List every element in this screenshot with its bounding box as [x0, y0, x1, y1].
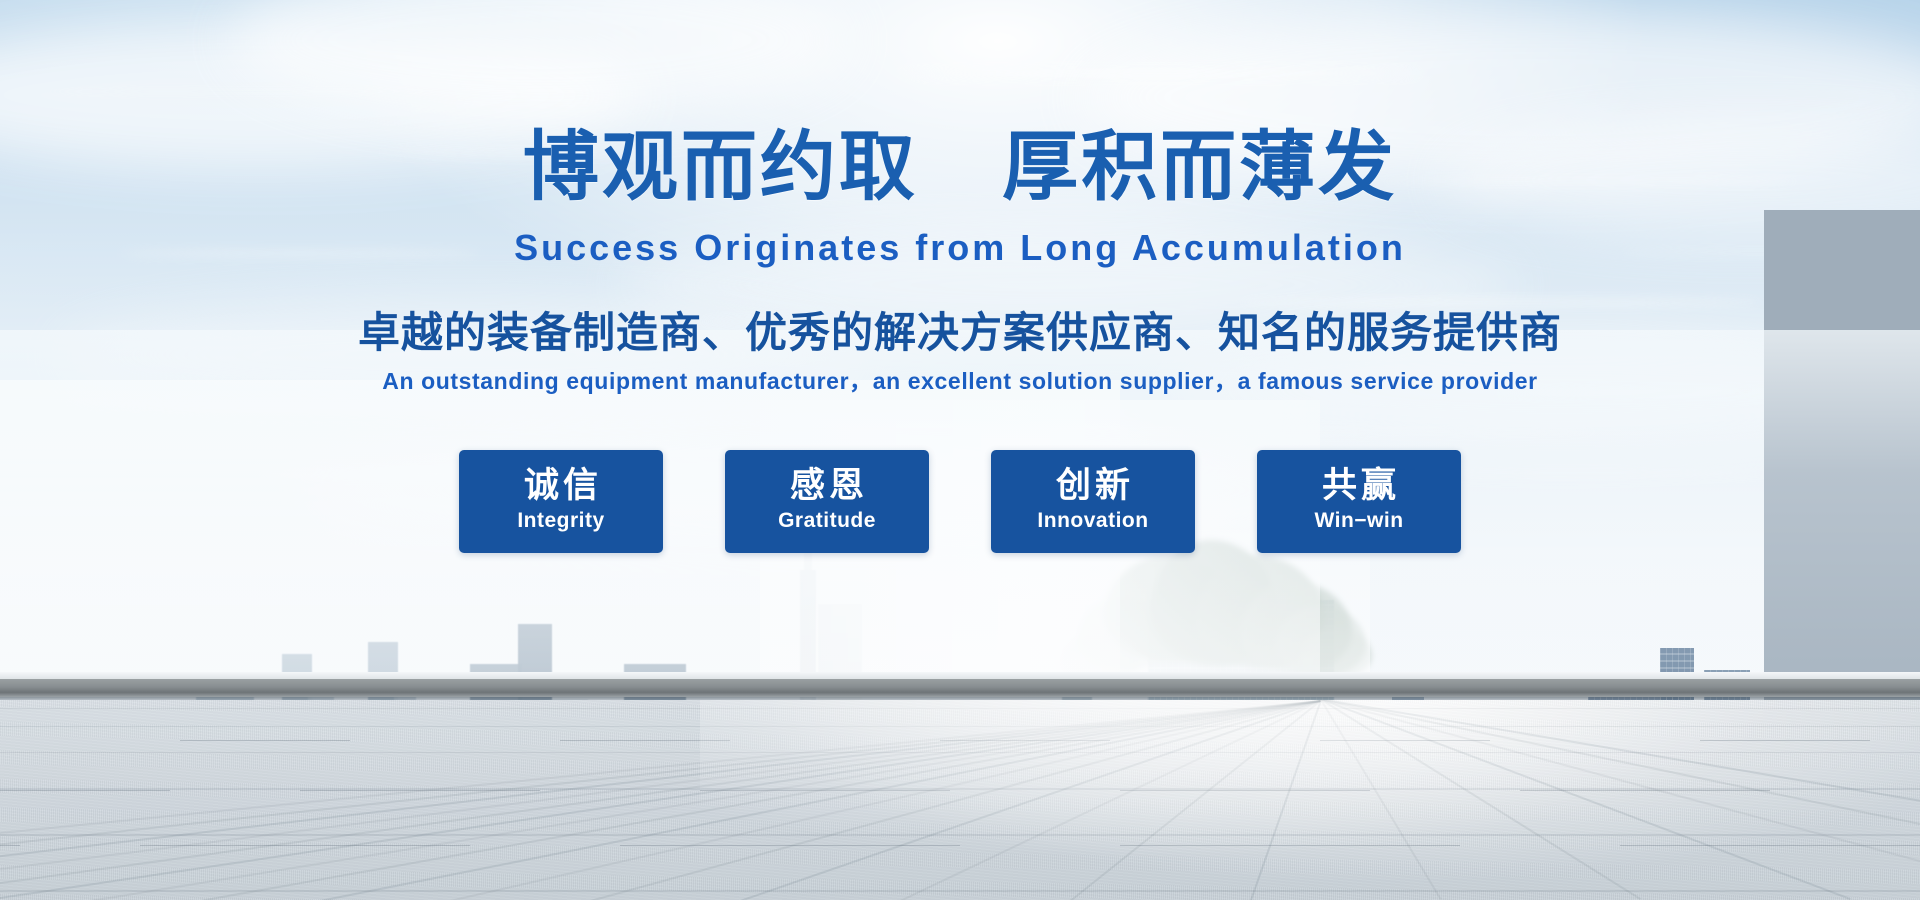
core-values-badge-row: 诚信Integrity感恩Gratitude创新Innovation共赢Win−… [0, 450, 1920, 553]
badge-label-cn: 感恩 [786, 468, 868, 505]
badge-label-cn: 诚信 [520, 468, 602, 505]
badge-label-cn: 共赢 [1318, 468, 1400, 505]
value-badge-win-win[interactable]: 共赢Win−win [1257, 450, 1461, 553]
subtitle-chinese: 卓越的装备制造商、优秀的解决方案供应商、知名的服务提供商 [0, 310, 1920, 356]
badge-label-cn: 创新 [1052, 468, 1134, 505]
badge-label-en: Innovation [1037, 507, 1148, 535]
headline-english: Success Originates from Long Accumulatio… [0, 228, 1920, 268]
subtitle-english: An outstanding equipment manufacturer，an… [0, 368, 1920, 396]
badge-label-en: Gratitude [778, 507, 876, 535]
badge-label-en: Win−win [1314, 507, 1403, 535]
value-badge-integrity[interactable]: 诚信Integrity [459, 450, 663, 553]
hero-banner: 博观而约取 厚积而薄发 Success Originates from Long… [0, 0, 1920, 900]
headline-cn-part1: 博观而约取 [523, 125, 918, 210]
value-badge-gratitude[interactable]: 感恩Gratitude [725, 450, 929, 553]
banner-content: 博观而约取 厚积而薄发 Success Originates from Long… [0, 0, 1920, 900]
page-title: 博观而约取 厚积而薄发 [0, 130, 1920, 206]
badge-label-en: Integrity [517, 507, 604, 535]
headline-cn-part2: 厚积而薄发 [1002, 125, 1397, 210]
value-badge-innovation[interactable]: 创新Innovation [991, 450, 1195, 553]
